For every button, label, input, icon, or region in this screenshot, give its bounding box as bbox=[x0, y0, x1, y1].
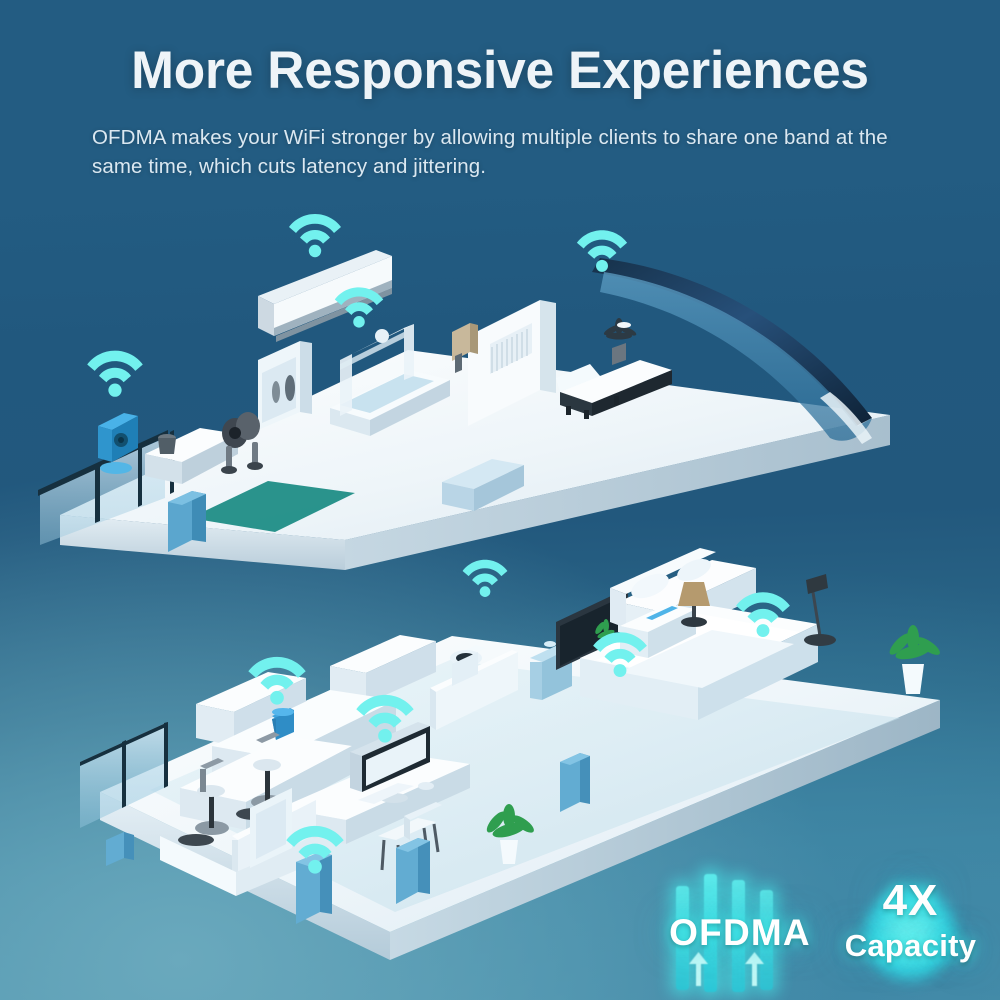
wifi-icon-wall-speaker bbox=[574, 226, 630, 278]
wifi-icon-bedroom bbox=[733, 588, 793, 643]
wifi-icon-hallway bbox=[283, 821, 347, 880]
wifi-icon-desk bbox=[353, 690, 417, 749]
wifi-icon-ac-side bbox=[332, 283, 386, 334]
wifi-icon-kitchen bbox=[245, 652, 309, 711]
subtitle-line-1: OFDMA makes your WiFi stronger by allowi… bbox=[92, 126, 830, 149]
wifi-icon-living-room bbox=[590, 628, 650, 683]
promo-image: More Responsive Experiences OFDMA makes … bbox=[0, 0, 1000, 1000]
page-title: More Responsive Experiences bbox=[15, 44, 985, 97]
header: More Responsive Experiences OFDMA makes … bbox=[0, 0, 1000, 181]
lower-floor-plate bbox=[0, 540, 1000, 1000]
wifi-icon-security-camera bbox=[84, 346, 146, 403]
wifi-icon-bathroom bbox=[460, 556, 510, 603]
page-subtitle: OFDMA makes your WiFi stronger by allowi… bbox=[92, 123, 922, 181]
wifi-icon-ac-top bbox=[286, 210, 344, 263]
